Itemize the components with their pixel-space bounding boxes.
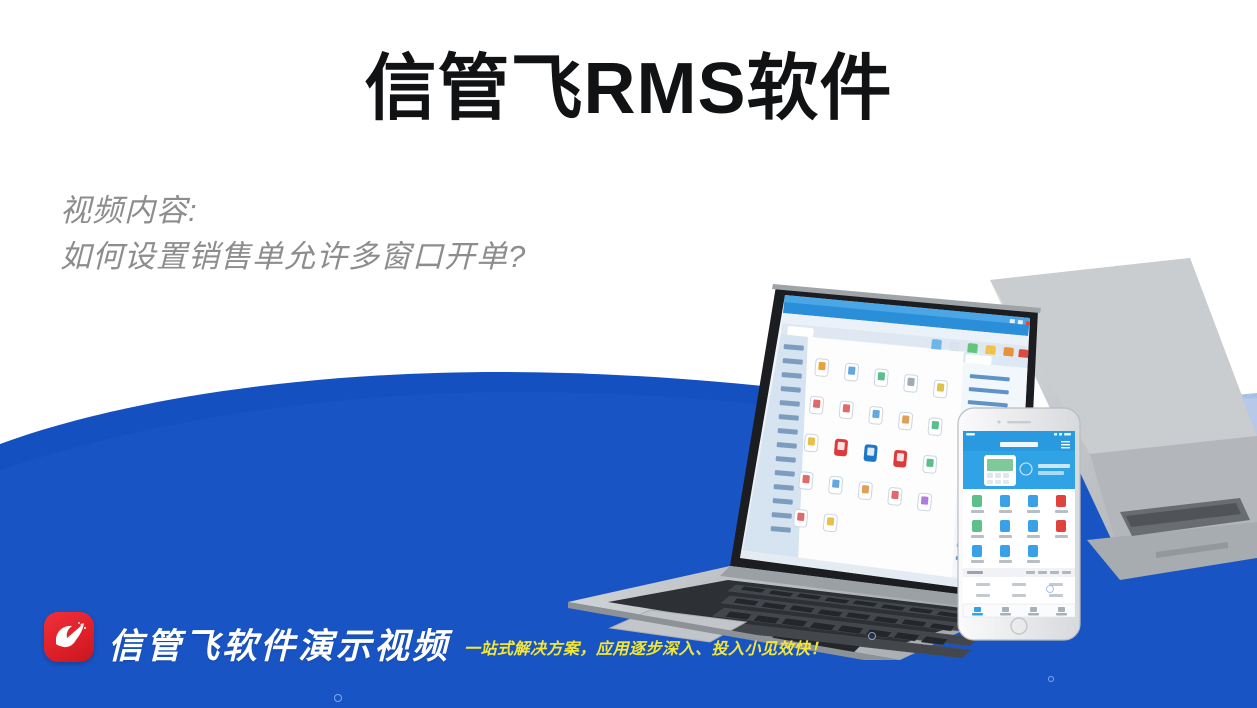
smartphone [958, 408, 1080, 640]
hamburger-menu-icon [1061, 441, 1070, 448]
devices-illustration [560, 240, 1257, 660]
presentation-slide: 信管飞RMS软件 视频内容: 如何设置销售单允许多窗口开单? [0, 0, 1257, 708]
brand-tagline: 一站式解决方案，应用逐步深入、投入小见效快！ [464, 635, 827, 659]
subtitle-line-2: 如何设置销售单允许多窗口开单? [60, 234, 526, 280]
decor-dot-1 [334, 694, 342, 702]
decor-dot-3 [1046, 585, 1054, 593]
page-title: 信管飞RMS软件 [0, 48, 1257, 131]
flying-bird-logo-icon [44, 612, 94, 662]
subtitle-block: 视频内容: 如何设置销售单允许多窗口开单? [60, 188, 526, 280]
device-mockup-group [560, 240, 1257, 660]
decor-dot-4 [1048, 676, 1054, 682]
decor-dot-2 [868, 632, 876, 640]
brand-title: 信管飞软件演示视频 [108, 629, 450, 664]
footer-brand-bar: 信管飞软件演示视频 一站式解决方案，应用逐步深入、投入小见效快！ [44, 612, 827, 664]
subtitle-line-1: 视频内容: [60, 188, 526, 234]
title-block: 信管飞RMS软件 [0, 48, 1257, 131]
